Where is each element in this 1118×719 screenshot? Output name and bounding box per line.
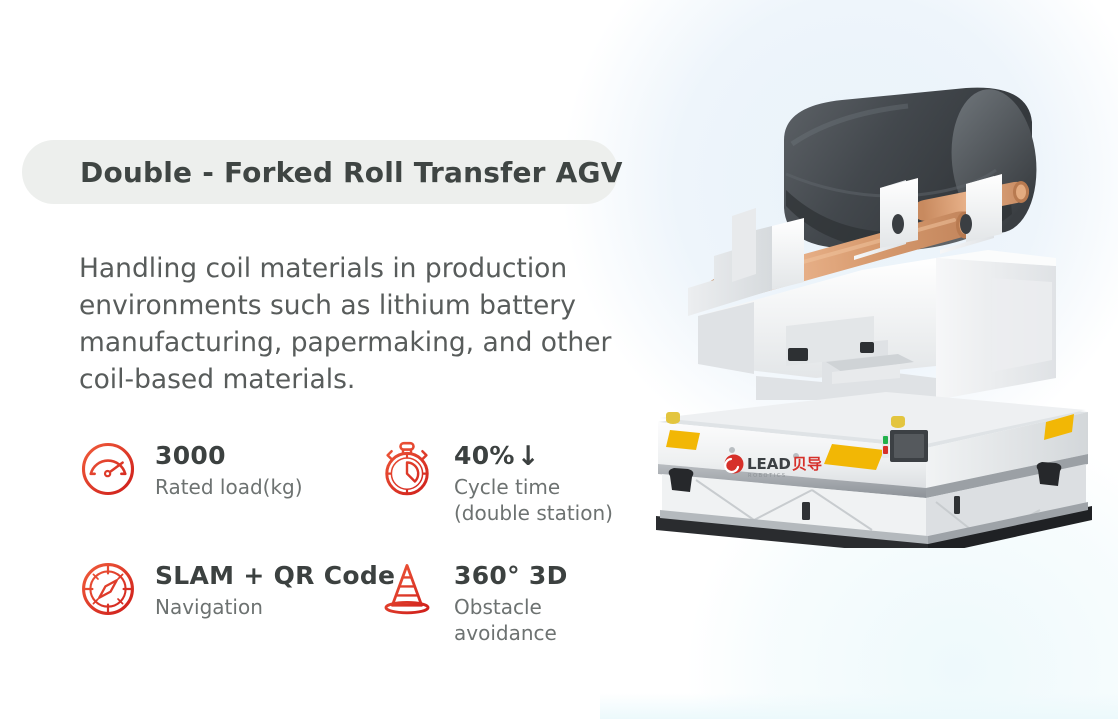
spec-label: Obstacle avoidance	[454, 594, 649, 646]
spec-row-2: SLAM + QR Code Navigation	[79, 558, 649, 646]
spec-value: 3000	[155, 442, 226, 470]
spec-stats-grid: 3000 Rated load(kg)	[79, 438, 649, 646]
spec-value: 40%	[454, 442, 515, 470]
spec-value-row: 3000	[155, 442, 303, 470]
spec-label: Rated load(kg)	[155, 474, 303, 500]
agv-illustration: LEAD 贝导 ROBOTICS	[636, 78, 1118, 548]
spec-text-block: 360° 3D Obstacle avoidance	[454, 558, 649, 646]
spec-text-block: 3000 Rated load(kg)	[155, 438, 303, 500]
spec-trend-arrow: ↓	[517, 443, 540, 470]
spec-item-rated-load: 3000 Rated load(kg)	[79, 438, 378, 558]
brand-logo-sub: ROBOTICS	[748, 473, 787, 479]
spec-item-obstacle-avoidance: 360° 3D Obstacle avoidance	[378, 558, 649, 646]
spec-value-row: 360° 3D	[454, 562, 649, 590]
stopwatch-icon	[378, 440, 436, 498]
traffic-cone-icon	[378, 560, 436, 618]
compass-icon	[79, 560, 137, 618]
spec-row-1: 3000 Rated load(kg)	[79, 438, 649, 558]
spec-text-block: 40% ↓ Cycle time (double station)	[454, 438, 613, 526]
slide-canvas: Double - Forked Roll Transfer AGV Handli…	[0, 0, 1118, 719]
page-title-pill: Double - Forked Roll Transfer AGV	[22, 140, 618, 204]
background-tint-bottom-bar	[600, 693, 1118, 719]
spec-label: Navigation	[155, 594, 397, 620]
page-title: Double - Forked Roll Transfer AGV	[80, 156, 623, 189]
product-image-agv: LEAD 贝导 ROBOTICS	[636, 78, 1118, 548]
spec-item-navigation: SLAM + QR Code Navigation	[79, 558, 378, 646]
spec-value-row: SLAM + QR Code	[155, 562, 397, 590]
spec-item-cycle-time: 40% ↓ Cycle time (double station)	[378, 438, 649, 558]
spec-value: SLAM + QR Code	[155, 562, 395, 590]
spec-value-row: 40% ↓	[454, 442, 613, 470]
gauge-icon	[79, 440, 137, 498]
spec-text-block: SLAM + QR Code Navigation	[155, 558, 397, 620]
spec-label: Cycle time (double station)	[454, 474, 613, 526]
agv-base: LEAD 贝导 ROBOTICS	[656, 392, 1092, 548]
brand-logo-cn: 贝导	[792, 455, 822, 473]
brand-logo-text: LEAD	[747, 455, 791, 473]
spec-value: 360° 3D	[454, 562, 568, 590]
product-description: Handling coil materials in production en…	[79, 250, 639, 398]
